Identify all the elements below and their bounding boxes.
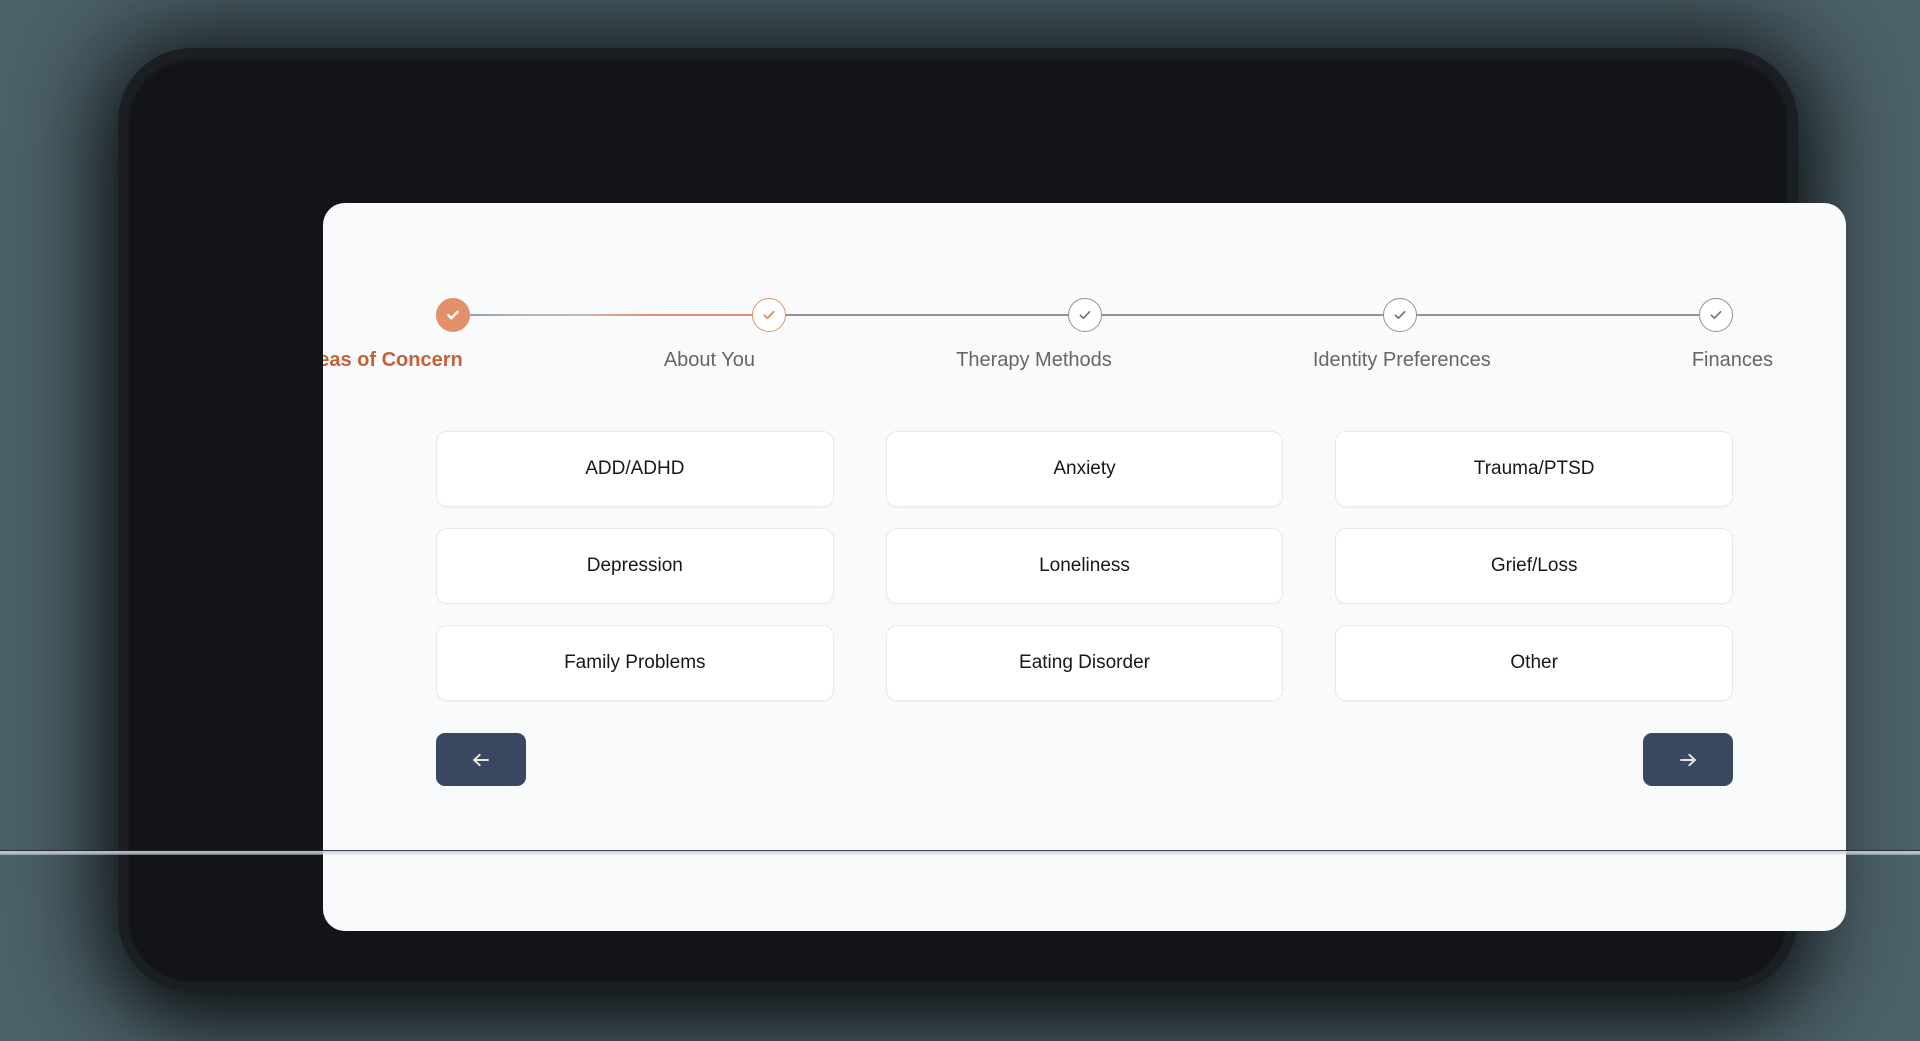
stepper-labels: Areas of Concern About You Therapy Metho… <box>436 349 1733 372</box>
next-button[interactable] <box>1643 733 1733 786</box>
progress-stepper: Areas of Concern About You Therapy Metho… <box>436 298 1733 408</box>
stepper-track <box>436 298 1733 332</box>
step-node-finances[interactable] <box>1699 298 1733 332</box>
step-label-about-you: About You <box>664 349 755 372</box>
step-label-therapy-methods: Therapy Methods <box>956 349 1112 372</box>
stepper-connector-4 <box>1415 314 1701 316</box>
areas-of-concern-options: ADD/ADHD Anxiety Trauma/PTSD Depression … <box>436 431 1733 701</box>
option-card[interactable]: Eating Disorder <box>886 625 1284 701</box>
step-node-therapy-methods[interactable] <box>1068 298 1102 332</box>
option-card[interactable]: Loneliness <box>886 528 1284 604</box>
option-card[interactable]: Family Problems <box>436 625 834 701</box>
option-card[interactable]: Grief/Loss <box>1335 528 1733 604</box>
check-icon <box>445 307 461 323</box>
device-bezel: Areas of Concern About You Therapy Metho… <box>128 58 1788 982</box>
stepper-connector-3 <box>1100 314 1386 316</box>
arrow-left-icon <box>468 750 494 770</box>
step-label-identity-preferences: Identity Preferences <box>1313 349 1491 372</box>
check-icon <box>1392 307 1408 323</box>
option-card[interactable]: Trauma/PTSD <box>1335 431 1733 507</box>
option-card[interactable]: ADD/ADHD <box>436 431 834 507</box>
arrow-right-icon <box>1675 750 1701 770</box>
back-button[interactable] <box>436 733 526 786</box>
option-card[interactable]: Anxiety <box>886 431 1284 507</box>
step-node-about-you[interactable] <box>752 298 786 332</box>
stepper-connector-2 <box>784 314 1070 316</box>
onboarding-panel: Areas of Concern About You Therapy Metho… <box>323 203 1846 931</box>
device-screen: Areas of Concern About You Therapy Metho… <box>323 203 1846 931</box>
check-icon <box>1708 307 1724 323</box>
step-node-identity-preferences[interactable] <box>1383 298 1417 332</box>
step-label-areas-of-concern: Areas of Concern <box>323 349 463 372</box>
step-node-areas-of-concern[interactable] <box>436 298 470 332</box>
option-card[interactable]: Other <box>1335 625 1733 701</box>
check-icon <box>1077 307 1093 323</box>
option-card[interactable]: Depression <box>436 528 834 604</box>
check-icon <box>761 307 777 323</box>
wizard-navigation <box>436 733 1733 786</box>
step-label-finances: Finances <box>1692 349 1773 372</box>
stepper-connector-1 <box>468 314 754 316</box>
